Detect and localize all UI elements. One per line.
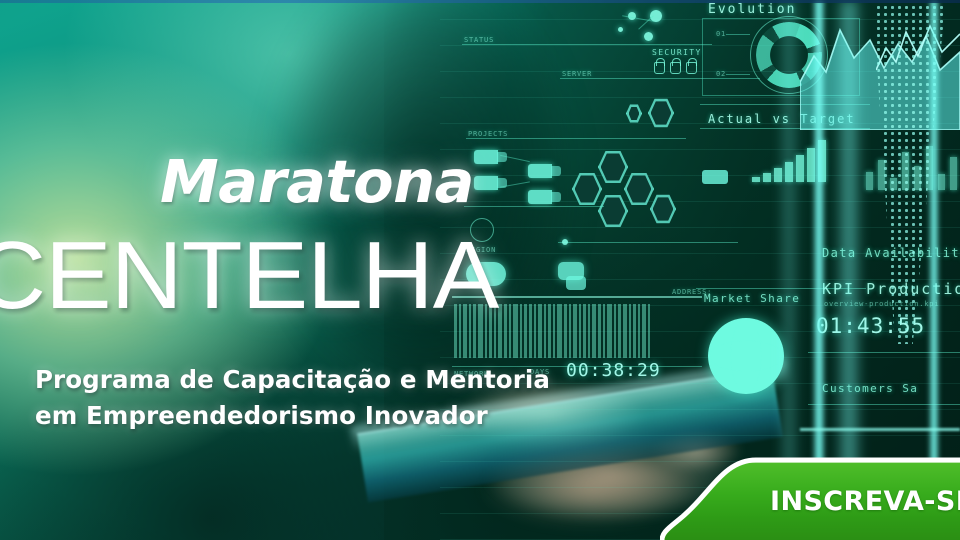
page-title: CENTELHA	[0, 228, 498, 324]
lock-icon	[654, 62, 665, 74]
tag-icon	[474, 150, 498, 164]
hud-axis-b: 02	[716, 70, 726, 78]
hud-rule	[726, 34, 750, 35]
hud-label-server: SERVER	[562, 70, 592, 78]
subtitle-line-2: em Empreendedorismo Inovador	[35, 398, 550, 434]
promo-banner: STATUS SERVER PROJECTS SECURITY	[0, 0, 960, 540]
hud-timer-secondary: 00:38:29	[566, 360, 661, 381]
hud-rule	[462, 44, 712, 45]
node-icon	[618, 27, 623, 32]
node-icon	[644, 32, 653, 41]
lock-icon	[670, 62, 681, 74]
device-icon	[566, 276, 586, 290]
legend-swatch	[702, 170, 728, 184]
tag-icon	[528, 164, 552, 178]
node-icon	[562, 239, 568, 245]
hud-rule	[466, 138, 686, 139]
hud-axis-a: 01	[716, 30, 726, 38]
cta-container[interactable]: INSCREVA-SE	[660, 456, 960, 540]
top-edge-line	[0, 0, 960, 3]
hud-label-projects: PROJECTS	[468, 130, 508, 138]
lock-icon	[686, 62, 697, 74]
subtitle-line-1: Programa de Capacitação e Mentoria	[35, 362, 550, 398]
hud-rule	[558, 242, 738, 243]
globe-icon	[708, 318, 784, 394]
hud-label-status: STATUS	[464, 36, 494, 44]
subtitle-text: Programa de Capacitação e Mentoria em Em…	[35, 362, 550, 433]
tag-icon	[528, 190, 552, 204]
hud-rule	[464, 206, 604, 207]
signup-button-label: INSCREVA-SE	[770, 486, 960, 517]
hud-label-security: SECURITY	[652, 48, 702, 57]
hud-rule	[726, 74, 750, 75]
kicker-text: Maratona	[160, 152, 474, 211]
tag-icon	[474, 176, 498, 190]
light-beam-horizontal	[800, 428, 960, 431]
